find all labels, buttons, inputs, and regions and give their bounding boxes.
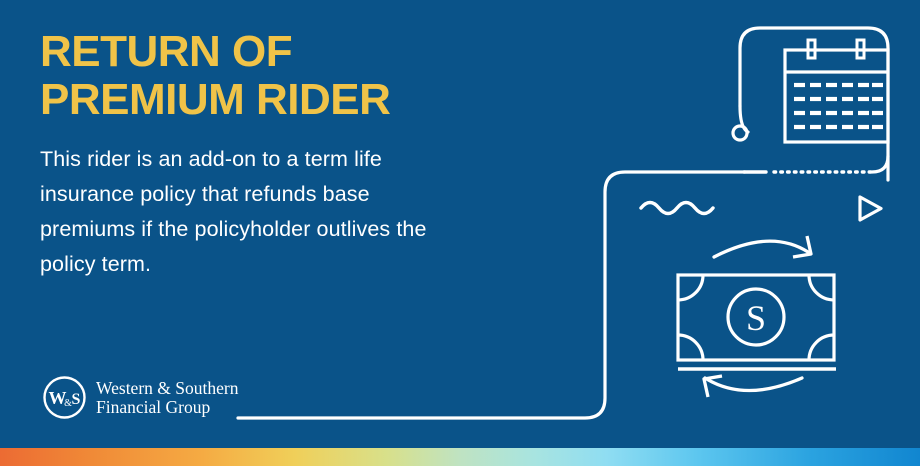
brand-logo: W & S Western & Southern Financial Group	[42, 375, 238, 420]
brand-wordmark: Western & Southern Financial Group	[96, 378, 238, 418]
monogram-s: S	[72, 391, 81, 408]
ws-monogram-icon: W & S	[42, 375, 87, 420]
page-title: RETURN OF PREMIUM RIDER	[40, 28, 510, 124]
description-paragraph: This rider is an add-on to a term life i…	[40, 124, 470, 282]
footer-gradient-bar	[0, 448, 920, 466]
infographic-canvas: S RETURN OF PREMIUM RIDER This rider is …	[0, 0, 920, 466]
text-column: RETURN OF PREMIUM RIDER This rider is an…	[40, 28, 510, 282]
